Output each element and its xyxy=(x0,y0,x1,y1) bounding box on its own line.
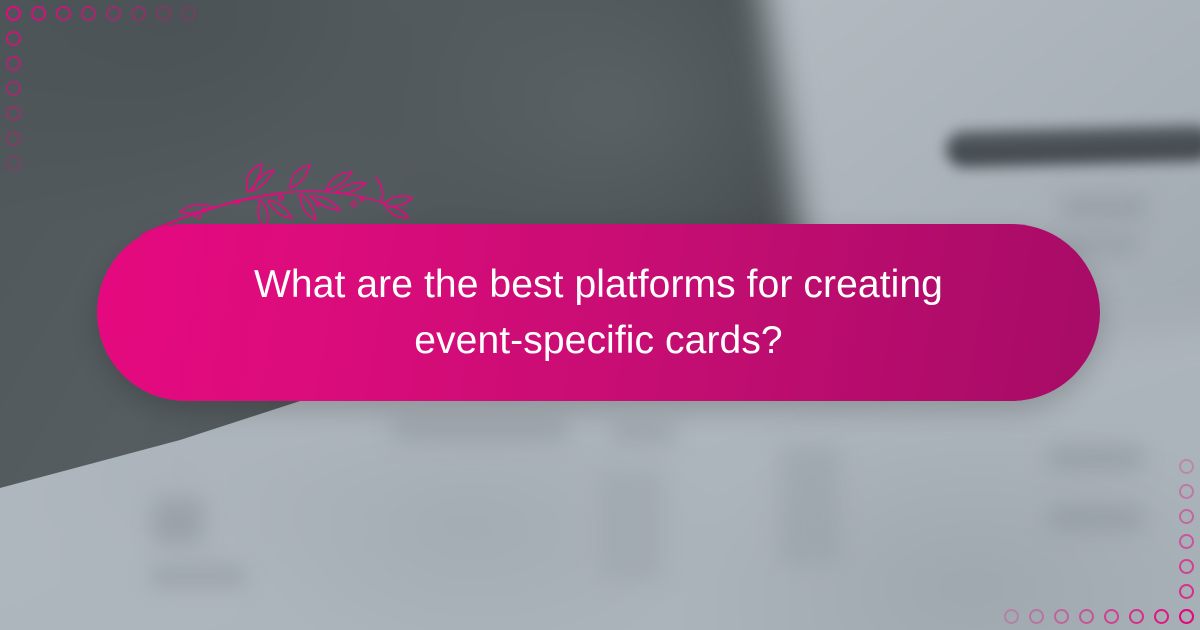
decor-dot-4 xyxy=(6,106,21,121)
decor-dot-6 xyxy=(156,6,171,21)
question-text: What are the best platforms for creating… xyxy=(219,257,979,368)
decor-dot-6 xyxy=(6,156,21,171)
background-pen-object xyxy=(946,124,1200,167)
decor-dot-3 xyxy=(6,81,21,96)
background-text-blur xyxy=(1060,196,1148,218)
decor-dot-4 xyxy=(1179,509,1194,524)
decor-dot-1 xyxy=(31,6,46,21)
social-card-canvas: What are the best platforms for creating… xyxy=(0,0,1200,630)
decor-dot-1 xyxy=(6,31,21,46)
decor-dots-top-left-row xyxy=(6,6,196,21)
decor-dot-0 xyxy=(6,6,21,21)
background-text-blur xyxy=(600,470,664,580)
background-text-blur xyxy=(150,566,246,586)
decor-dot-2 xyxy=(6,56,21,71)
question-banner: What are the best platforms for creating… xyxy=(97,224,1100,401)
decor-dot-2 xyxy=(56,6,71,21)
background-text-blur xyxy=(780,444,840,564)
decor-dots-bottom-right-column xyxy=(1179,459,1194,624)
decor-dot-6 xyxy=(1029,609,1044,624)
decor-dot-3 xyxy=(1179,534,1194,549)
decor-dot-5 xyxy=(131,6,146,21)
decor-dots-top-left-column xyxy=(6,6,21,171)
decor-dot-2 xyxy=(1179,559,1194,574)
background-text-blur xyxy=(152,498,204,544)
decor-dot-0 xyxy=(1179,609,1194,624)
decor-dot-4 xyxy=(1079,609,1094,624)
decor-dot-2 xyxy=(1129,609,1144,624)
background-text-blur xyxy=(612,424,676,442)
decor-dot-4 xyxy=(106,6,121,21)
decor-dot-5 xyxy=(1054,609,1069,624)
decor-dot-7 xyxy=(1004,609,1019,624)
decor-dot-5 xyxy=(1179,484,1194,499)
background-text-blur xyxy=(1048,446,1144,470)
background-text-blur xyxy=(392,420,568,440)
decor-dot-5 xyxy=(6,131,21,146)
background-text-blur xyxy=(1048,506,1144,530)
decor-dots-bottom-right-row xyxy=(1004,609,1194,624)
decor-dot-6 xyxy=(1179,459,1194,474)
decor-dot-1 xyxy=(1154,609,1169,624)
decor-dot-3 xyxy=(1104,609,1119,624)
decor-dot-3 xyxy=(81,6,96,21)
decor-dot-1 xyxy=(1179,584,1194,599)
decor-dot-7 xyxy=(181,6,196,21)
